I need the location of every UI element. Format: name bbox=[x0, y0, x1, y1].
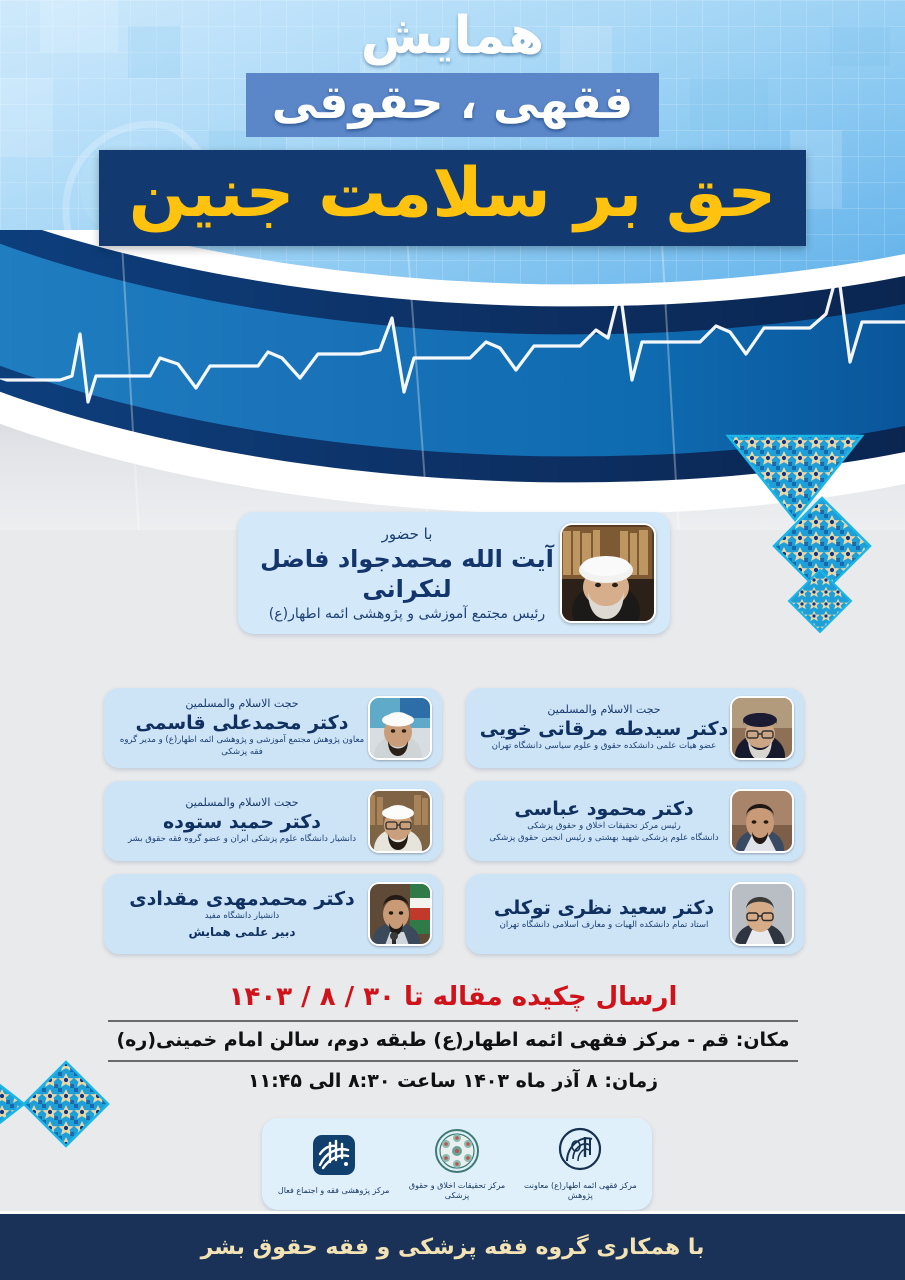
sponsor-logos-bar: مرکز فقهی ائمه اطهار(ع) معاونت پژوهش bbox=[262, 1118, 652, 1210]
speaker-name: دکتر حمید ستوده bbox=[116, 810, 368, 835]
speaker-role: رئیس مرکز تحقیقات اخلاق و حقوق پزشکی bbox=[478, 821, 730, 833]
speaker-text: دکتر محمود عباسی رئیس مرکز تحقیقات اخلاق… bbox=[473, 797, 730, 845]
speaker-name: دکتر محمدمهدی مقدادی bbox=[116, 887, 368, 912]
speaker-tag: دبیر علمی همایش bbox=[116, 923, 368, 941]
poster-kicker: همایش bbox=[0, 8, 905, 65]
avatar bbox=[730, 789, 794, 853]
speaker-text: حجت الاسلام والمسلمین دکتر سیدطه مرقاتی … bbox=[473, 703, 730, 753]
avatar bbox=[730, 696, 794, 760]
logo-caption: مرکز پژوهشی فقه و اجتماع فعال bbox=[278, 1186, 390, 1196]
speaker-text: دکتر محمدمهدی مقدادی دانشیار دانشگاه مفی… bbox=[111, 887, 368, 942]
speaker-role: عضو هیات علمی دانشکده حقوق و علوم سیاسی … bbox=[478, 741, 730, 753]
guest-role: رئیس مجتمع آموزشی و پژوهشی ائمه اطهار(ع) bbox=[254, 606, 560, 622]
speaker-name: دکتر سیدطه مرقاتی خویی bbox=[478, 717, 730, 742]
venue-line: مکان: قم - مرکز فقهی ائمه اطهار(ع) طبقه … bbox=[108, 1020, 798, 1062]
logo-item: مرکز فقهی ائمه اطهار(ع) معاونت پژوهش bbox=[520, 1127, 640, 1202]
speaker-role: دانشیار دانشگاه علوم پزشکی ایران و عضو گ… bbox=[116, 834, 368, 846]
logo-caption: مرکز فقهی ائمه اطهار(ع) معاونت پژوهش bbox=[520, 1181, 640, 1202]
speaker-text: دکتر سعید نظری توکلی استاد تمام دانشکده … bbox=[473, 896, 730, 933]
speaker-card-morghati-khoei: حجت الاسلام والمسلمین دکتر سیدطه مرقاتی … bbox=[466, 688, 804, 768]
speaker-prefix: حجت الاسلام والمسلمین bbox=[478, 703, 730, 717]
avatar bbox=[368, 789, 432, 853]
speaker-name: دکتر محمود عباسی bbox=[478, 797, 730, 822]
speaker-text: حجت الاسلام والمسلمین دکتر حمید ستوده دا… bbox=[111, 796, 368, 846]
markaz-feghhi-aemeh-athar-logo-icon bbox=[554, 1127, 606, 1179]
conference-poster: همایش فقهی ، حقوقی حق بر سلامت جنین bbox=[0, 0, 905, 1280]
honored-guest-card: با حضور آیت الله محمدجواد فاضل لنکرانی ر… bbox=[238, 512, 670, 634]
speaker-role: معاون پژوهش مجتمع آموزشی و پژوهشی ائمه ا… bbox=[116, 735, 368, 759]
avatar bbox=[730, 882, 794, 946]
islamic-tile-ornament-left-icon bbox=[0, 1040, 112, 1170]
time-line: زمان: ۸ آذر ماه ۱۴۰۳ ساعت ۸:۳۰ الی ۱۱:۴۵ bbox=[108, 1062, 798, 1096]
guest-prefix: با حضور bbox=[254, 525, 560, 543]
poster-title-wrap: حق بر سلامت جنین bbox=[0, 150, 905, 246]
logo-item: مرکز پژوهشی فقه و اجتماع فعال bbox=[274, 1132, 394, 1196]
markaz-pajoheshi-feghh-logo-icon bbox=[308, 1132, 360, 1184]
event-info: ارسال چکیده مقاله تا ۳۰ / ۸ / ۱۴۰۳ مکان:… bbox=[108, 980, 798, 1095]
islamic-tile-ornament-right-icon bbox=[712, 418, 897, 633]
logo-item: مرکز تحقیقات اخلاق و حقوق پزشکی bbox=[397, 1127, 517, 1202]
speaker-name: دکتر سعید نظری توکلی bbox=[478, 896, 730, 921]
markaz-tahghighat-akhlagh-logo-icon bbox=[431, 1127, 483, 1179]
speaker-role: دانشیار دانشگاه مفید bbox=[116, 911, 368, 923]
speaker-role-secondary: دانشگاه علوم پزشکی شهید بهشتی و رئیس انج… bbox=[478, 833, 730, 845]
footer-bar: با همکاری گروه فقه پزشکی و فقه حقوق بشر bbox=[0, 1214, 905, 1280]
speaker-prefix: حجت الاسلام والمسلمین bbox=[116, 796, 368, 810]
speaker-card-mohammadali-ghasemi: حجت الاسلام والمسلمین دکتر محمدعلی قاسمی… bbox=[104, 688, 442, 768]
speaker-card-nazari-tavakoli: دکتر سعید نظری توکلی استاد تمام دانشکده … bbox=[466, 874, 804, 954]
speakers-grid: حجت الاسلام والمسلمین دکتر سیدطه مرقاتی … bbox=[104, 688, 804, 970]
honored-guest-text: با حضور آیت الله محمدجواد فاضل لنکرانی ر… bbox=[248, 525, 560, 622]
footer-text: با همکاری گروه فقه پزشکی و فقه حقوق بشر bbox=[201, 1235, 705, 1260]
speaker-role: استاد تمام دانشکده الهیات و معارف اسلامی… bbox=[478, 920, 730, 932]
page-title: حق بر سلامت جنین bbox=[99, 150, 806, 246]
guest-name: آیت الله محمدجواد فاضل لنکرانی bbox=[254, 544, 560, 604]
avatar bbox=[368, 696, 432, 760]
logo-caption: مرکز تحقیقات اخلاق و حقوق پزشکی bbox=[397, 1181, 517, 1202]
avatar bbox=[368, 882, 432, 946]
speaker-text: حجت الاسلام والمسلمین دکتر محمدعلی قاسمی… bbox=[111, 697, 368, 759]
poster-subtitle: فقهی ، حقوقی bbox=[246, 73, 659, 137]
poster-subtitle-wrap: فقهی ، حقوقی bbox=[0, 73, 905, 137]
speaker-card-hamid-sotoudeh: حجت الاسلام والمسلمین دکتر حمید ستوده دا… bbox=[104, 781, 442, 861]
speaker-card-mohammadmehdi-meghdadi: دکتر محمدمهدی مقدادی دانشیار دانشگاه مفی… bbox=[104, 874, 442, 954]
avatar bbox=[560, 523, 656, 623]
speaker-card-mahmoud-abbasi: دکتر محمود عباسی رئیس مرکز تحقیقات اخلاق… bbox=[466, 781, 804, 861]
speaker-name: دکتر محمدعلی قاسمی bbox=[116, 711, 368, 736]
speaker-prefix: حجت الاسلام والمسلمین bbox=[116, 697, 368, 711]
abstract-deadline: ارسال چکیده مقاله تا ۳۰ / ۸ / ۱۴۰۳ bbox=[108, 980, 798, 1020]
